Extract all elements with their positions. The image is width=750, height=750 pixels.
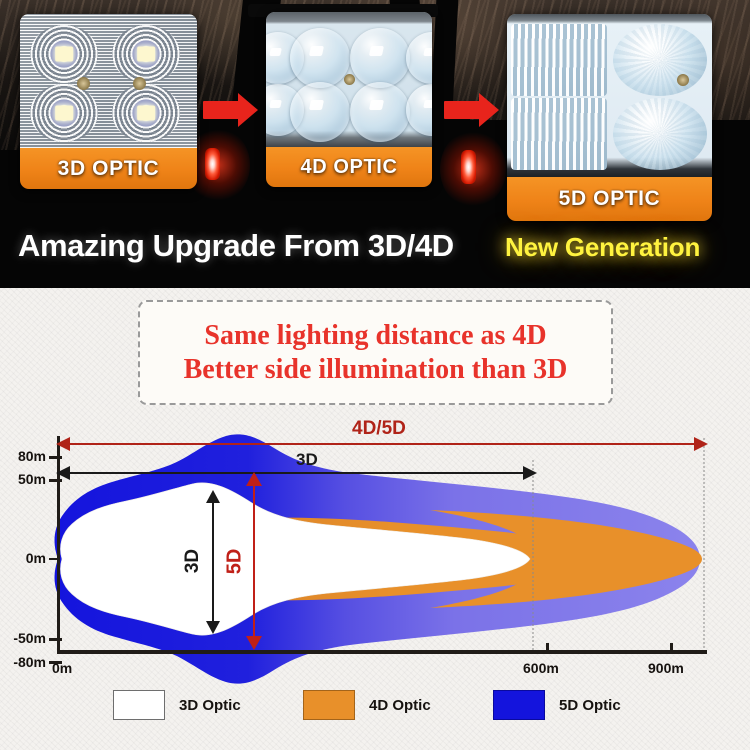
beam-pattern-chart: Same lighting distance as 4D Better side… <box>0 288 750 750</box>
product-panel-4d[interactable]: 4D OPTIC <box>266 12 432 187</box>
arrow-4d-to-5d-icon <box>444 92 499 128</box>
legend-label-4d: 4D Optic <box>369 697 431 714</box>
hero-photo-banner: 3D OPTIC 4D OPTIC <box>0 0 750 288</box>
y-tick-80 <box>49 456 62 459</box>
y-axis-label-neg80m: -80m <box>0 654 46 670</box>
panel-caption-3d: 3D OPTIC <box>20 148 197 189</box>
span-arrow-3d-shaft <box>68 472 525 474</box>
panel-caption-4d: 4D OPTIC <box>266 147 432 187</box>
legend-item-3d[interactable]: 3D Optic <box>113 690 241 720</box>
span-arrow-4d5d-head-right <box>694 437 708 451</box>
width-arrow-3d-shaft <box>212 501 214 622</box>
y-tick-neg50 <box>49 638 62 641</box>
x-tick-600 <box>546 643 549 653</box>
width-arrow-3d-head-top <box>206 490 220 503</box>
chart-legend: 3D Optic 4D Optic 5D Optic <box>0 684 750 734</box>
width-arrow-5d-head-bottom <box>246 636 262 650</box>
span-arrow-3d-head-right <box>523 466 537 480</box>
legend-swatch-3d <box>113 690 165 720</box>
product-panel-3d[interactable]: 3D OPTIC <box>20 14 197 189</box>
arrow-3d-to-4d-icon <box>203 92 258 128</box>
led-optic-comparison-page: 3D OPTIC 4D OPTIC <box>0 0 750 750</box>
width-arrow-5d-head-top <box>246 472 262 486</box>
y-axis-label-80m: 80m <box>0 448 46 464</box>
hero-headline: Amazing Upgrade From 3D/4D <box>18 228 454 264</box>
span-arrow-4d5d-shaft <box>68 443 696 445</box>
beam-pattern-plot <box>0 288 750 750</box>
taillight-left <box>205 148 220 180</box>
x-axis-label-0m: 0m <box>52 660 72 676</box>
span-arrow-4d5d-head-left <box>56 437 70 451</box>
y-axis-label-0m: 0m <box>0 550 46 566</box>
span-label-3d: 3D <box>296 450 318 470</box>
panel-caption-5d: 5D OPTIC <box>507 177 712 221</box>
taillight-right <box>461 150 476 184</box>
legend-item-4d[interactable]: 4D Optic <box>303 690 431 720</box>
y-axis-label-neg50m: -50m <box>0 630 46 646</box>
legend-swatch-5d <box>493 690 545 720</box>
width-arrow-5d-shaft <box>253 484 255 637</box>
hero-new-generation-label: New Generation <box>505 232 700 263</box>
x-axis-label-600m: 600m <box>523 660 559 676</box>
led-crystal-lens-5d-icon <box>507 14 712 177</box>
legend-item-5d[interactable]: 5D Optic <box>493 690 621 720</box>
legend-swatch-4d <box>303 690 355 720</box>
x-axis-label-900m: 900m <box>648 660 684 676</box>
led-dome-lens-4d-icon <box>266 12 432 147</box>
x-tick-900 <box>670 643 673 653</box>
width-label-3d: 3D <box>182 549 204 573</box>
span-arrow-3d-head-left <box>56 466 70 480</box>
y-tick-0 <box>49 558 60 560</box>
y-axis-label-50m: 50m <box>0 471 46 487</box>
led-reflector-3d-icon <box>20 14 197 148</box>
legend-label-3d: 3D Optic <box>179 697 241 714</box>
product-panel-5d[interactable]: 5D OPTIC <box>507 14 712 221</box>
legend-label-5d: 5D Optic <box>559 697 621 714</box>
width-arrow-3d-head-bottom <box>206 621 220 634</box>
span-label-4d5d: 4D/5D <box>352 418 406 440</box>
width-label-5d: 5D <box>223 549 246 575</box>
x-axis <box>57 650 707 654</box>
